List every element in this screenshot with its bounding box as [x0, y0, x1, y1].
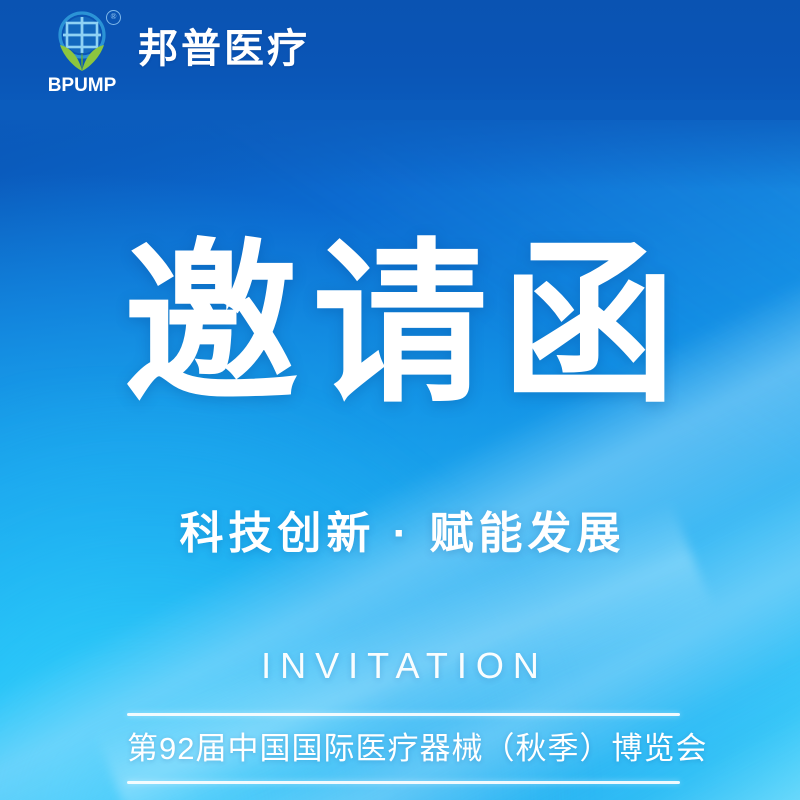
- page-title: 邀请函: [110, 238, 691, 413]
- page-subtitle: 科技创新 · 赋能发展: [174, 508, 625, 561]
- title-block: 邀请函: [0, 238, 800, 413]
- footer-block: 第92届中国国际医疗器械（秋季）博览会: [127, 713, 680, 784]
- bpump-flower-logo-icon: BPUMP ®: [44, 9, 120, 95]
- invitation-english-label: INVITATION: [252, 645, 548, 687]
- footer-divider-top: [127, 713, 680, 716]
- registered-trademark-icon: ®: [106, 10, 121, 25]
- brand-name-cn: 邦普医疗: [138, 29, 310, 69]
- background-top-band-fade: [0, 100, 800, 190]
- footer-divider-bottom: [127, 781, 680, 784]
- subtitle-block: 科技创新 · 赋能发展: [0, 508, 800, 561]
- invitation-english-block: INVITATION: [0, 645, 800, 687]
- event-name: 第92届中国国际医疗器械（秋季）博览会: [127, 716, 680, 781]
- logo-wordmark: BPUMP: [48, 75, 117, 95]
- invitation-poster: BPUMP ® 邦普医疗 邀请函 科技创新 · 赋能发展 INVITATION …: [0, 0, 800, 800]
- header-bar: BPUMP ® 邦普医疗: [0, 0, 800, 104]
